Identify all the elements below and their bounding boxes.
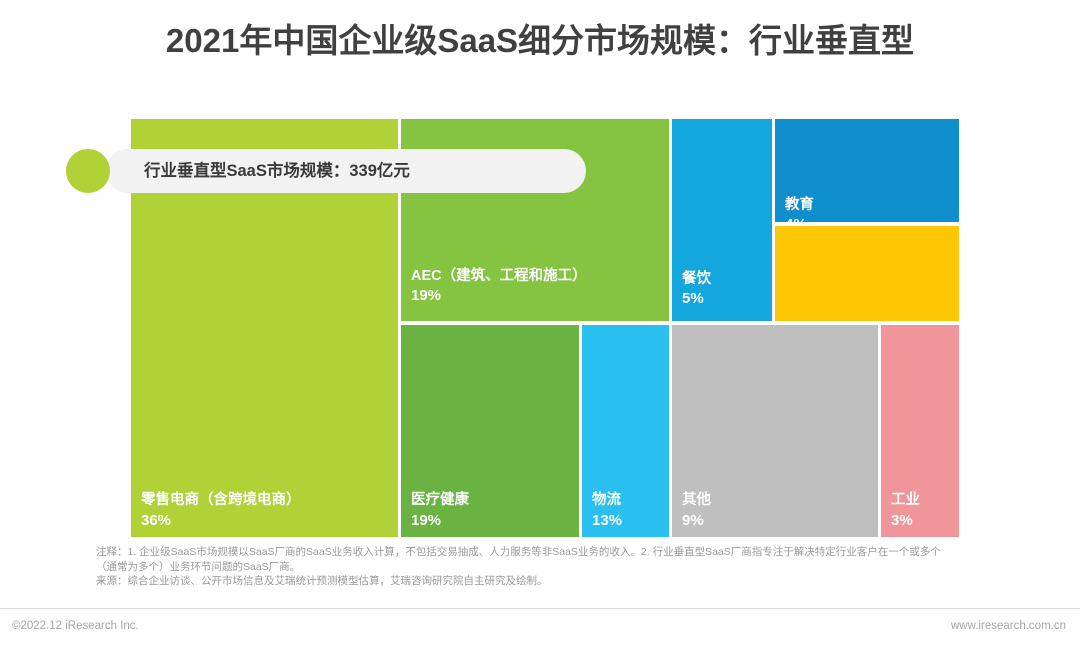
footnotes: 注释：1. 企业级SaaS市场规模以SaaS厂商的SaaS业务收入计算，不包括交… (96, 545, 996, 589)
treemap-cell-percent: 4% (785, 215, 807, 222)
treemap-cell-label: 医疗健康 (411, 491, 469, 510)
treemap-cell-label: 物流 (592, 491, 621, 510)
treemap-cell-label: 其他 (682, 491, 711, 510)
legend-label: 行业垂直型SaaS市场规模：339亿元 (144, 149, 410, 193)
legend-color-dot (66, 149, 110, 193)
treemap-cell[interactable]: 教育4% (775, 119, 959, 222)
treemap-cell-percent: 19% (411, 286, 441, 305)
footnote-source: 来源：综合企业访谈、公开市场信息及艾瑞统计预测模型估算，艾瑞咨询研究院自主研究及… (96, 574, 996, 589)
treemap-cell-label: 教育 (785, 196, 814, 215)
treemap-cell[interactable]: 工业3% (881, 325, 959, 537)
footer-website: www.iresearch.com.cn (951, 620, 1066, 632)
treemap-cell-label: 零售电商（含跨境电商） (141, 491, 301, 510)
treemap-cell[interactable]: 物流13% (582, 325, 669, 537)
slide-canvas: 2021年中国企业级SaaS细分市场规模：行业垂直型 零售电商（含跨境电商）36… (0, 0, 1080, 647)
treemap-cell[interactable]: 酒旅4% (775, 226, 959, 321)
treemap-cell[interactable]: 餐饮5% (672, 119, 772, 321)
treemap-cell[interactable]: 医疗健康19% (401, 325, 579, 537)
footnote-line-1: 注释：1. 企业级SaaS市场规模以SaaS厂商的SaaS业务收入计算，不包括交… (96, 545, 996, 560)
treemap-cell-percent: 19% (411, 511, 441, 530)
treemap-cell-percent: 5% (682, 289, 704, 308)
treemap-cell[interactable]: 其他9% (672, 325, 878, 537)
treemap-cell-percent: 9% (682, 511, 704, 530)
footer-divider (0, 608, 1080, 609)
treemap-cell-percent: 13% (592, 511, 622, 530)
treemap-cell-percent: 3% (891, 511, 913, 530)
footnote-line-2: （通常为多个）业务环节问题的SaaS厂商。 (96, 560, 996, 575)
treemap-cell-label: 工业 (891, 491, 920, 510)
treemap-cell-percent: 36% (141, 511, 171, 530)
treemap-cell-label: AEC（建筑、工程和施工） (411, 267, 587, 286)
treemap-cell-label: 餐饮 (682, 270, 711, 289)
page-title: 2021年中国企业级SaaS细分市场规模：行业垂直型 (0, 14, 1080, 62)
footer-copyright: ©2022.12 iResearch Inc. (12, 620, 139, 632)
